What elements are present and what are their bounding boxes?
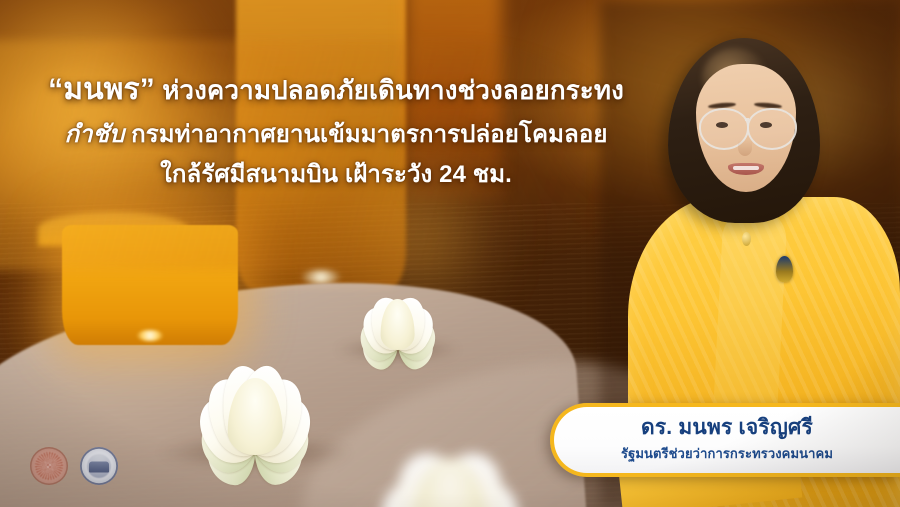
- headline-block: “มนพร” ห่วงความปลอดภัยเดินทางช่วงลอยกระท…: [0, 70, 672, 191]
- glasses-bridge: [745, 118, 749, 121]
- nameplate: ดร. มนพร เจริญศรี รัฐมนตรีช่วยว่าการกระท…: [550, 403, 900, 477]
- glasses-icon: [747, 108, 797, 150]
- department-of-airports-seal-icon: [80, 447, 118, 485]
- agency-logos: [30, 447, 118, 485]
- nameplate-role: รัฐมนตรีช่วยว่าการกระทรวงคมนาคม: [621, 443, 833, 464]
- portrait-nose: [738, 140, 752, 156]
- ministry-of-transport-seal-icon: [30, 447, 68, 485]
- nameplate-name: ดร. มนพร เจริญศรี: [641, 416, 813, 439]
- headline-line-2-rest: กรมท่าอากาศยานเข้มมาตรการปล่อยโคมลอย: [124, 121, 607, 148]
- headline-line-2: กำชับ กรมท่าอากาศยานเข้มมาตรการปล่อยโคมล…: [0, 119, 672, 151]
- headline-line-3: ใกล้รัศมีสนามบิน เฝ้าระวัง 24 ชม.: [0, 159, 672, 191]
- portrait-necklace-pendant: [742, 232, 751, 246]
- headline-quoted-name: “มนพร”: [48, 73, 155, 106]
- headline-emphasis-word: กำชับ: [65, 121, 125, 148]
- headline-line-1: “มนพร” ห่วงความปลอดภัยเดินทางช่วงลอยกระท…: [0, 70, 672, 110]
- announcement-graphic: “มนพร” ห่วงความปลอดภัยเดินทางช่วงลอยกระท…: [0, 0, 900, 507]
- lapel-pin-icon: [776, 256, 793, 282]
- headline-line-1-rest: ห่วงความปลอดภัยเดินทางช่วงลอยกระทง: [155, 75, 624, 105]
